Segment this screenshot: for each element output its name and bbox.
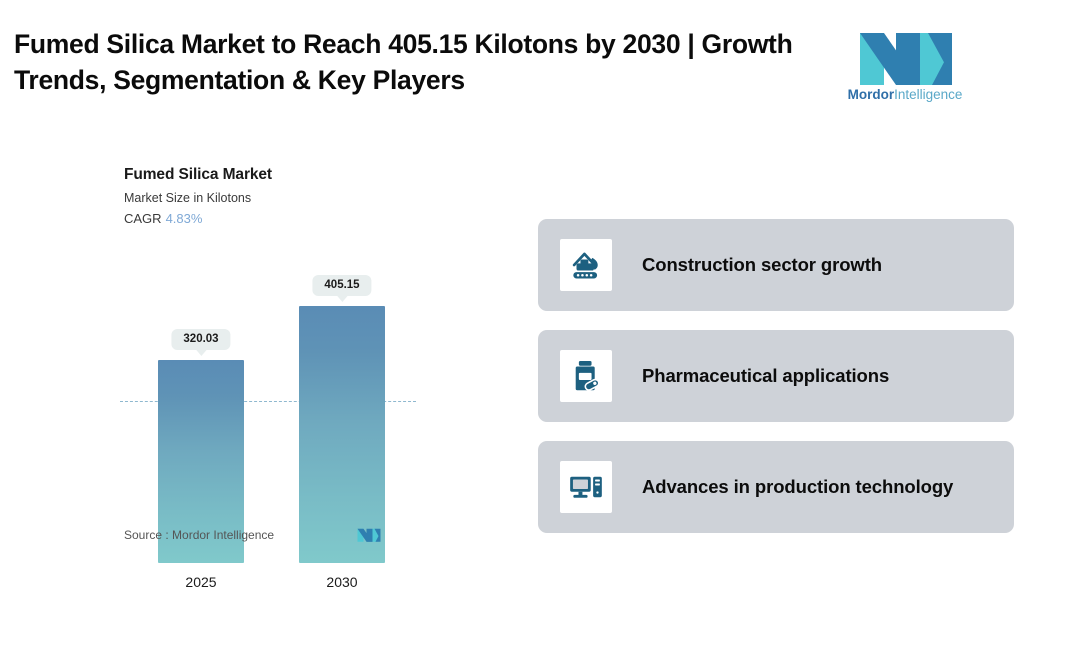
driver-card-pharmaceutical[interactable]: Pharmaceutical applications (538, 330, 1014, 422)
chart-cagr: CAGR4.83% (124, 211, 202, 226)
market-drivers-list: Construction sector growth Pharmaceutica… (538, 219, 1014, 552)
driver-card-technology[interactable]: Advances in production technology (538, 441, 1014, 533)
medicine-bottle-icon (560, 350, 612, 402)
driver-card-label: Pharmaceutical applications (642, 362, 889, 390)
chart-plot-area: 320.03 2025 405.15 2030 (118, 238, 428, 653)
chart-subtitle: Market Size in Kilotons (124, 191, 251, 205)
brand-wordmark-bold: Mordor (848, 87, 895, 102)
bar-category-label-2030: 2030 (299, 574, 385, 590)
cagr-value: 4.83% (166, 211, 203, 226)
excavator-icon (560, 239, 612, 291)
brand-wordmark-light: Intelligence (894, 87, 962, 102)
bar-value-chip-2025: 320.03 (171, 329, 230, 350)
bar-group-2030: 405.15 2030 (299, 263, 385, 563)
chart-source-text: Source : Mordor Intelligence (124, 528, 274, 542)
chart-title: Fumed Silica Market (124, 166, 272, 184)
mordor-intelligence-logo-mark (854, 27, 958, 85)
mordor-intelligence-logo-mark-small (356, 526, 382, 543)
bar-2030[interactable] (299, 306, 385, 563)
bar-group-2025: 320.03 2025 (158, 303, 244, 563)
driver-card-construction[interactable]: Construction sector growth (538, 219, 1014, 311)
desktop-computer-icon (560, 461, 612, 513)
market-size-chart: Fumed Silica Market Market Size in Kilot… (118, 160, 428, 560)
brand-logo: MordorIntelligence (846, 27, 964, 103)
bar-category-label-2025: 2025 (158, 574, 244, 590)
page-header: Fumed Silica Market to Reach 405.15 Kilo… (0, 0, 1081, 118)
bar-value-chip-2030: 405.15 (312, 275, 371, 296)
brand-wordmark: MordorIntelligence (846, 87, 964, 102)
cagr-label: CAGR (124, 211, 162, 226)
driver-card-label: Construction sector growth (642, 251, 882, 279)
driver-card-label: Advances in production technology (642, 473, 953, 501)
page-title: Fumed Silica Market to Reach 405.15 Kilo… (14, 26, 824, 98)
